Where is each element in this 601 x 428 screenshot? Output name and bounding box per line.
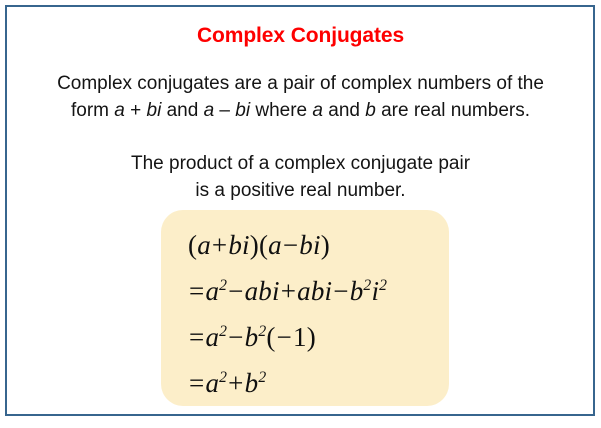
definition-paragraph: Complex conjugates are a pair of complex… xyxy=(18,70,583,124)
term-a-1: a xyxy=(197,230,211,260)
operator-minus-5: − xyxy=(276,322,293,352)
exponent-a-1: 2 xyxy=(219,277,227,294)
operator-plus-2: + xyxy=(280,276,297,306)
term-a-4: a xyxy=(205,322,219,352)
operator-equals-3: = xyxy=(188,322,205,352)
term-b-2: b xyxy=(245,322,259,352)
formula-lines: (a+bi)(a−bi) =a2−abi+abi−b2i2 =a2−b2(−1)… xyxy=(188,222,439,406)
formula-line-1: (a+bi)(a−bi) xyxy=(188,222,439,268)
term-a-3: a xyxy=(205,276,219,306)
paren-close-1: ) xyxy=(250,230,259,260)
paren-close-2: ) xyxy=(321,230,330,260)
term-a-5: a xyxy=(205,368,219,398)
operator-minus-4: − xyxy=(227,322,244,352)
variable-b-1: b xyxy=(365,100,376,121)
term-i-1: i xyxy=(371,276,379,306)
definition-line-1: Complex conjugates are a pair of complex… xyxy=(57,73,544,94)
variable-a-2: a xyxy=(204,100,215,121)
term-b-1: b xyxy=(350,276,364,306)
definition-text-and-2: and xyxy=(323,100,365,121)
term-b-3: b xyxy=(245,368,259,398)
slide-content: Complex Conjugates Complex conjugates ar… xyxy=(0,0,601,428)
operator-plus: + xyxy=(125,100,147,121)
exponent-b-3: 2 xyxy=(258,369,266,386)
term-a-2: a xyxy=(268,230,282,260)
variable-bi-2: bi xyxy=(235,100,250,121)
variable-a-1: a xyxy=(114,100,125,121)
operator-minus-3: − xyxy=(332,276,349,306)
definition-text-form: form xyxy=(71,100,114,121)
term-bi-1: bi xyxy=(228,230,249,260)
term-bi-2: bi xyxy=(299,230,320,260)
formula-line-2: =a2−abi+abi−b2i2 xyxy=(188,268,439,314)
formula-line-4: =a2+b2 xyxy=(188,360,439,406)
exponent-i-1: 2 xyxy=(379,277,387,294)
definition-text-tail: are real numbers. xyxy=(376,100,530,121)
operator-minus-2: − xyxy=(227,276,244,306)
slide-page: Complex Conjugates Complex conjugates ar… xyxy=(0,0,601,428)
operator-minus-1: − xyxy=(282,230,299,260)
number-one: 1 xyxy=(293,322,307,352)
exponent-a-2: 2 xyxy=(219,323,227,340)
operator-plus-1: + xyxy=(211,230,228,260)
term-abi-2: abi xyxy=(297,276,332,306)
operator-equals-2: = xyxy=(188,276,205,306)
paren-open-3: ( xyxy=(266,322,275,352)
operator-plus-3: + xyxy=(227,368,244,398)
variable-a-3: a xyxy=(312,100,323,121)
definition-text-where: where xyxy=(250,100,312,121)
page-title: Complex Conjugates xyxy=(0,24,601,48)
statement-paragraph: The product of a complex conjugate pair … xyxy=(18,150,583,204)
definition-line-2: form a + bi and a – bi where a and b are… xyxy=(71,100,530,121)
operator-equals-4: = xyxy=(188,368,205,398)
exponent-a-3: 2 xyxy=(219,369,227,386)
paren-close-3: ) xyxy=(307,322,316,352)
definition-text-and-1: and xyxy=(161,100,203,121)
term-abi-1: abi xyxy=(245,276,280,306)
statement-line-1: The product of a complex conjugate pair xyxy=(131,153,470,174)
paren-open-2: ( xyxy=(259,230,268,260)
formula-box: (a+bi)(a−bi) =a2−abi+abi−b2i2 =a2−b2(−1)… xyxy=(161,210,449,406)
paren-open-1: ( xyxy=(188,230,197,260)
statement-line-2: is a positive real number. xyxy=(195,180,405,201)
operator-minus: – xyxy=(214,100,235,121)
variable-bi-1: bi xyxy=(147,100,162,121)
formula-line-3: =a2−b2(−1) xyxy=(188,314,439,360)
